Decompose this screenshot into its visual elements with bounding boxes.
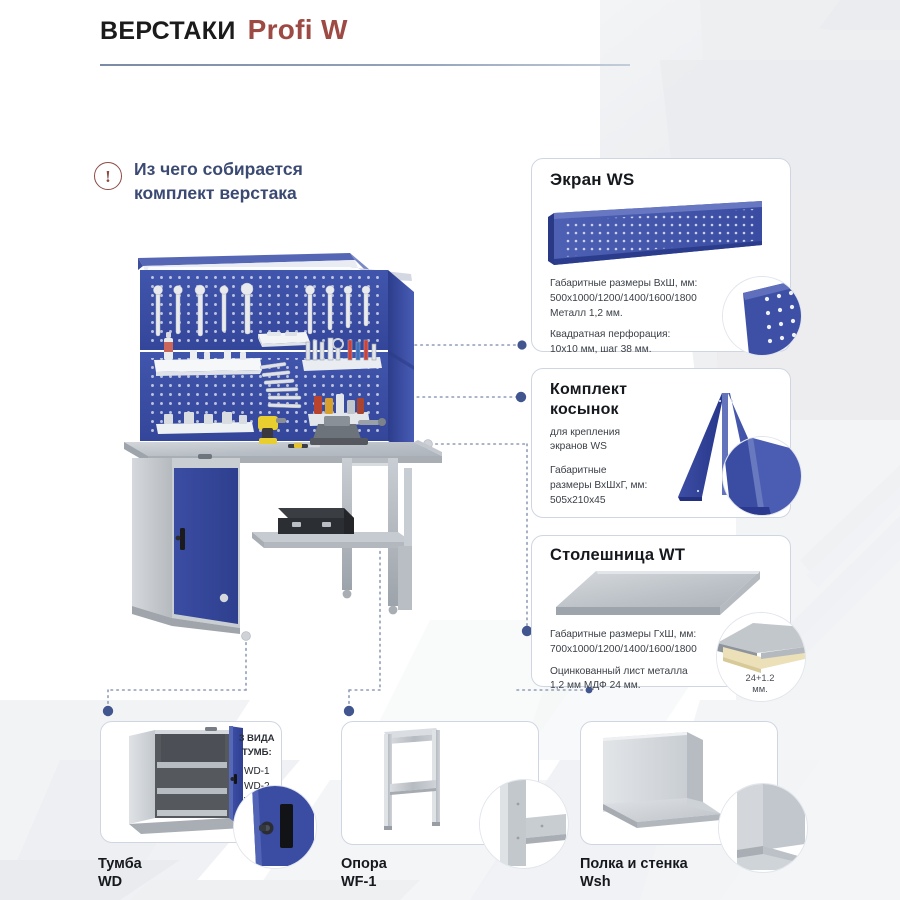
workbench-illustration <box>112 246 442 638</box>
label-shelf-wsh: Полка и стенка Wsh <box>580 855 688 891</box>
detail-circle-cabinet-lock <box>233 785 317 869</box>
worktop-spec-line4: 1,2 мм МДФ 24 мм. <box>550 680 641 691</box>
card-gusset-subtitle: для крепления экранов WS <box>550 426 660 455</box>
label-cabinet-wd: Тумба WD <box>98 855 142 891</box>
infographic-page: ВЕРСТАКИProfi W ! Из чего собирается ком… <box>0 0 900 900</box>
gusset-title-line2: косынок <box>550 400 660 420</box>
gusset-spec-line3: 505x210x45 <box>550 495 606 506</box>
gusset-sub-line2: экранов WS <box>550 440 660 454</box>
label-support-wf1: Опора WF-1 <box>341 855 387 891</box>
worktop-spec-line2: 700x1000/1200/1400/1600/1800 <box>550 644 697 655</box>
gusset-title-line1: Комплект <box>550 380 660 400</box>
shelf-label-line1: Полка и стенка <box>580 855 688 873</box>
gusset-spec-line2: размеры ВхШхГ, мм: <box>550 480 647 491</box>
worktop-illustration <box>554 569 764 621</box>
card-screen-title: Экран WS <box>550 170 634 190</box>
cabinet-variants-line2: ТУМБ: <box>239 746 275 760</box>
toolbox <box>278 508 354 534</box>
support-label-line1: Опора <box>341 855 387 873</box>
screen-spec-line2: 500x1000/1200/1400/1600/1800 <box>550 293 697 304</box>
worktop-spec-line3: Оцинкованный лист металла <box>550 666 688 677</box>
section-heading: ! Из чего собирается комплект верстака <box>94 158 303 205</box>
card-gusset-specs: Габаритные размеры ВхШхГ, мм: 505x210x45 <box>550 464 680 508</box>
support-label-line2: WF-1 <box>341 873 387 891</box>
screen-spec-line1: Габаритные размеры ВхШ, мм: <box>550 278 697 289</box>
cabinet-code-1: WD-1 <box>239 764 275 779</box>
bench-shelf-sockets <box>156 412 254 434</box>
shelf-label-line2: Wsh <box>580 873 688 891</box>
card-worktop-title: Столешница WT <box>550 546 685 565</box>
worktop-detail-line2: мм. <box>716 683 804 694</box>
screen-spec-line5: 10x10 мм, шаг 38 мм. <box>550 344 652 355</box>
section-heading-line1: Из чего собирается <box>134 158 303 182</box>
cabinet-label-line2: WD <box>98 873 142 891</box>
detail-circle-gusset-edge <box>722 436 802 516</box>
detail-circle-shelf-corner <box>718 783 808 873</box>
screen-spec-line3: Металл 1,2 мм. <box>550 308 623 319</box>
bench-shelf-upper <box>258 332 310 347</box>
section-heading-line2: комплект верстака <box>134 182 303 206</box>
worktop-spec-line1: Габаритные размеры ГхШ, мм: <box>550 629 696 640</box>
detail-caption-worktop: 24+1.2 мм. <box>716 672 804 695</box>
cabinet-label-line1: Тумба <box>98 855 142 873</box>
worktop-detail-line1: 24+1.2 <box>716 672 804 683</box>
gusset-sub-line1: для крепления <box>550 426 660 440</box>
page-title-main: ВЕРСТАКИ <box>100 17 236 45</box>
page-header: ВЕРСТАКИProfi W <box>100 14 348 46</box>
section-heading-text: Из чего собирается комплект верстака <box>134 158 303 205</box>
exclamation-circle-icon: ! <box>94 162 122 190</box>
header-divider <box>100 64 630 66</box>
detail-circle-support-joint <box>479 779 569 869</box>
bench-cabinet <box>132 454 240 634</box>
card-screen-specs: Габаритные размеры ВхШ, мм: 500x1000/120… <box>550 277 746 358</box>
screen-ws-illustration <box>548 197 772 275</box>
screen-spec-line4: Квадратная перфорация: <box>550 329 670 340</box>
page-title-model: Profi W <box>248 14 348 45</box>
gusset-spec-line1: Габаритные <box>550 465 607 476</box>
page-title: ВЕРСТАКИProfi W <box>100 14 348 46</box>
cabinet-variants-line1: 3 ВИДА <box>239 732 275 746</box>
card-gusset-title: Комплект косынок <box>550 380 660 419</box>
detail-circle-screen-perforation <box>722 276 802 356</box>
